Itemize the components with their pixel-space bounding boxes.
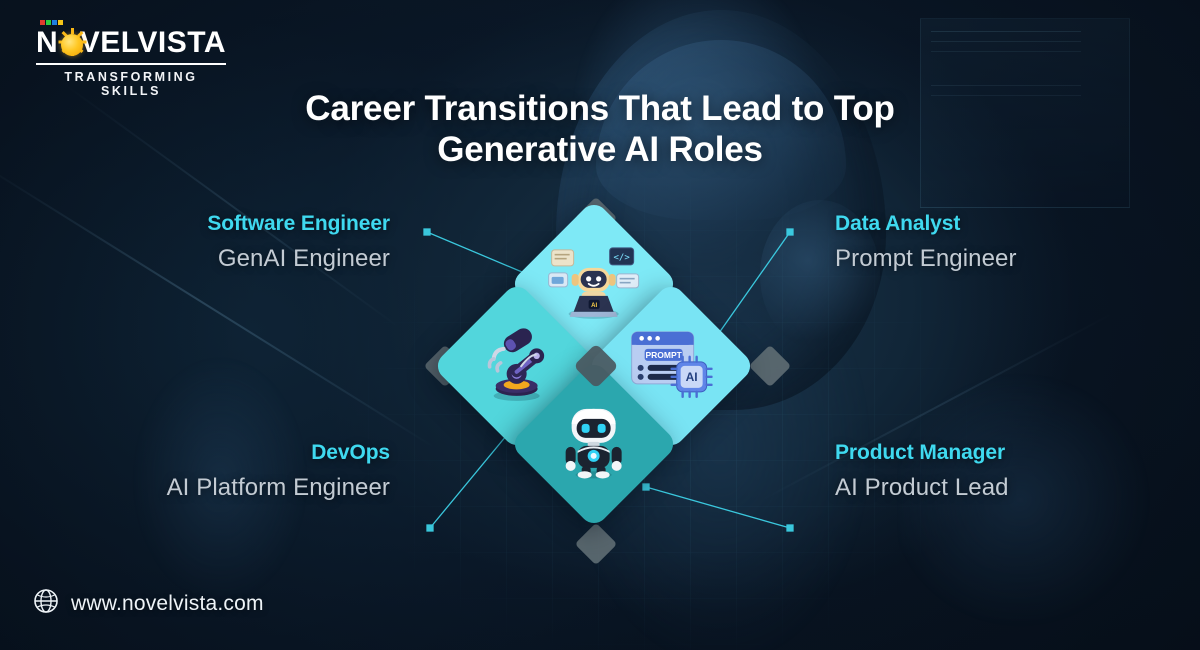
- from-role-label: Product Manager: [835, 441, 1165, 464]
- transition-devops: DevOps AI Platform Engineer: [40, 441, 390, 503]
- svg-text:AI: AI: [686, 370, 698, 384]
- transition-software-engineer: Software Engineer GenAI Engineer: [40, 212, 390, 274]
- diamond-cluster: </> AI: [448, 218, 768, 546]
- to-role-label: Prompt Engineer: [835, 243, 1165, 274]
- from-role-label: Software Engineer: [40, 212, 390, 235]
- to-role-label: GenAI Engineer: [40, 243, 390, 274]
- transition-product-manager: Product Manager AI Product Lead: [835, 441, 1165, 503]
- globe-icon: [33, 588, 59, 619]
- prompt-window-chip-icon: PROMPT AI: [629, 328, 713, 405]
- transition-data-analyst: Data Analyst Prompt Engineer: [835, 212, 1165, 274]
- to-role-label: AI Product Lead: [835, 472, 1165, 503]
- footer: www.novelvista.com: [33, 588, 264, 619]
- svg-text:</>: </>: [614, 253, 631, 263]
- svg-text:AI: AI: [592, 303, 598, 309]
- ai-assistant-robot-laptop-icon: </> AI: [548, 242, 640, 327]
- robotic-arm-icon: [481, 326, 553, 407]
- website-url: www.novelvista.com: [71, 592, 264, 616]
- humanoid-robot-mascot-icon: [563, 405, 625, 484]
- svg-text:PROMPT: PROMPT: [646, 350, 683, 360]
- from-role-label: Data Analyst: [835, 212, 1165, 235]
- infographic-canvas: N VELVISTA TRANSFORMING SKILLS Career Tr…: [0, 0, 1200, 650]
- to-role-label: AI Platform Engineer: [40, 472, 390, 503]
- from-role-label: DevOps: [40, 441, 390, 464]
